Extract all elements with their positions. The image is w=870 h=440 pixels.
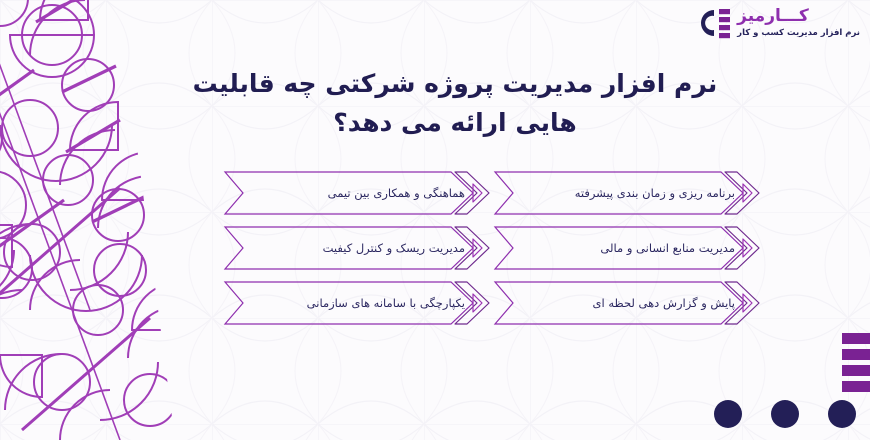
decor-dot: [828, 400, 856, 428]
feature-item[interactable]: هماهنگی و همکاری بین تیمی: [205, 170, 505, 216]
decor-bar: [842, 349, 870, 360]
feature-column-right: برنامه ریزی و زمان بندی پیشرفته مدیریت م…: [475, 170, 775, 335]
decor-bar: [842, 365, 870, 376]
feature-item[interactable]: پایش و گزارش دهی لحظه ای: [475, 280, 775, 326]
feature-item[interactable]: مدیریت ریسک و کنترل کیفیت: [205, 225, 505, 271]
feature-label: یکپارچگی با سامانه های سازمانی: [247, 280, 465, 326]
brand-logo[interactable]: کـــارمیز نرم افزار مدیریت کسب و کار: [693, 6, 860, 40]
slide-canvas: کـــارمیز نرم افزار مدیریت کسب و کار نرم…: [0, 0, 870, 440]
feature-label: پایش و گزارش دهی لحظه ای: [517, 280, 735, 326]
brand-name: کـــارمیز: [737, 8, 809, 25]
page-title: نرم افزار مدیریت پروژه شرکتی چه قابلیت ه…: [0, 65, 870, 143]
feature-label: برنامه ریزی و زمان بندی پیشرفته: [517, 170, 735, 216]
page-title-line2: هایی ارائه می دهد؟: [190, 104, 720, 143]
page-title-line1: نرم افزار مدیریت پروژه شرکتی چه قابلیت: [193, 69, 718, 98]
decor-dot: [771, 400, 799, 428]
feature-item[interactable]: یکپارچگی با سامانه های سازمانی: [205, 280, 505, 326]
decor-dots: [714, 400, 856, 428]
feature-label: مدیریت منابع انسانی و مالی: [517, 225, 735, 271]
brand-logo-text: کـــارمیز نرم افزار مدیریت کسب و کار: [737, 8, 860, 38]
feature-label: مدیریت ریسک و کنترل کیفیت: [247, 225, 465, 271]
feature-item[interactable]: مدیریت منابع انسانی و مالی: [475, 225, 775, 271]
feature-columns: برنامه ریزی و زمان بندی پیشرفته مدیریت م…: [0, 170, 870, 350]
feature-label: هماهنگی و همکاری بین تیمی: [247, 170, 465, 216]
feature-item[interactable]: برنامه ریزی و زمان بندی پیشرفته: [475, 170, 775, 216]
decor-bar: [842, 381, 870, 392]
feature-column-left: هماهنگی و همکاری بین تیمی مدیریت ریسک و …: [205, 170, 505, 335]
karmiz-c-logo-icon: [693, 6, 731, 40]
brand-tagline: نرم افزار مدیریت کسب و کار: [737, 29, 860, 38]
decor-dot: [714, 400, 742, 428]
